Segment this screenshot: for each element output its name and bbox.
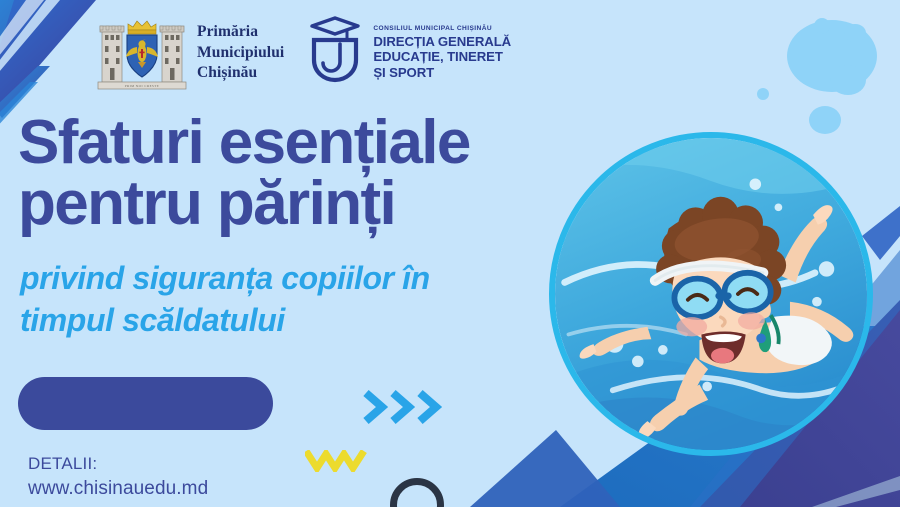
headline-line-2: pentru părinți bbox=[18, 174, 470, 235]
svg-text:PRIM NOI CRESTE: PRIM NOI CRESTE bbox=[125, 84, 159, 88]
primaria-line-3: Chișinău bbox=[197, 63, 284, 84]
chevron-right-icon bbox=[362, 390, 388, 424]
subheadline-line-2: timpul scăldatului bbox=[20, 300, 430, 342]
dgets-graduation-cap-logo-icon bbox=[306, 14, 364, 84]
cta-button[interactable] bbox=[18, 377, 273, 430]
page-subtitle: privind siguranța copiilor în timpul scă… bbox=[20, 258, 430, 341]
page-title: Sfaturi esențiale pentru părinți bbox=[18, 113, 470, 235]
swimmer-illustration bbox=[555, 138, 867, 450]
subheadline-line-1: privind siguranța copiilor în bbox=[20, 260, 430, 296]
logo-dgets: CONSILIUL MUNICIPAL CHIȘINĂU DIRECȚIA GE… bbox=[306, 14, 511, 84]
zigzag-icon bbox=[305, 450, 369, 472]
dgets-line-3: ȘI SPORT bbox=[373, 65, 511, 80]
primaria-line-2: Municipiului bbox=[197, 43, 284, 64]
child-swimming-photo bbox=[549, 132, 873, 456]
dgets-line-1: DIRECȚIA GENERALĂ bbox=[373, 34, 511, 49]
details-block: DETALII: www.chisinauedu.md bbox=[28, 452, 208, 503]
crown-icon bbox=[128, 21, 156, 34]
dgets-line-2: EDUCAȚIE, TINERET bbox=[373, 49, 511, 64]
wedge-under-circle bbox=[470, 430, 620, 507]
primaria-label: Primăria Municipiului Chișinău bbox=[197, 22, 284, 84]
dgets-small-line: CONSILIUL MUNICIPAL CHIȘINĂU bbox=[373, 25, 511, 32]
chevron-right-icon bbox=[389, 390, 415, 424]
primaria-line-1: Primăria bbox=[197, 22, 284, 43]
details-url[interactable]: www.chisinauedu.md bbox=[28, 476, 208, 503]
chevron-group bbox=[362, 390, 442, 424]
logo-primaria: PRIM NOI CRESTE Primăria Municipiului Ch… bbox=[96, 14, 284, 92]
dgets-label: CONSILIUL MUNICIPAL CHIȘINĂU DIRECȚIA GE… bbox=[373, 18, 511, 81]
details-label: DETALII: bbox=[28, 452, 208, 476]
chevron-right-icon bbox=[416, 390, 442, 424]
water-bubbles bbox=[754, 18, 877, 155]
header-logos: PRIM NOI CRESTE Primăria Municipiului Ch… bbox=[96, 14, 511, 92]
poster-canvas: PRIM NOI CRESTE Primăria Municipiului Ch… bbox=[0, 0, 900, 507]
headline-line-1: Sfaturi esențiale bbox=[18, 108, 470, 177]
chisinau-coat-of-arms-icon: PRIM NOI CRESTE bbox=[96, 14, 188, 92]
